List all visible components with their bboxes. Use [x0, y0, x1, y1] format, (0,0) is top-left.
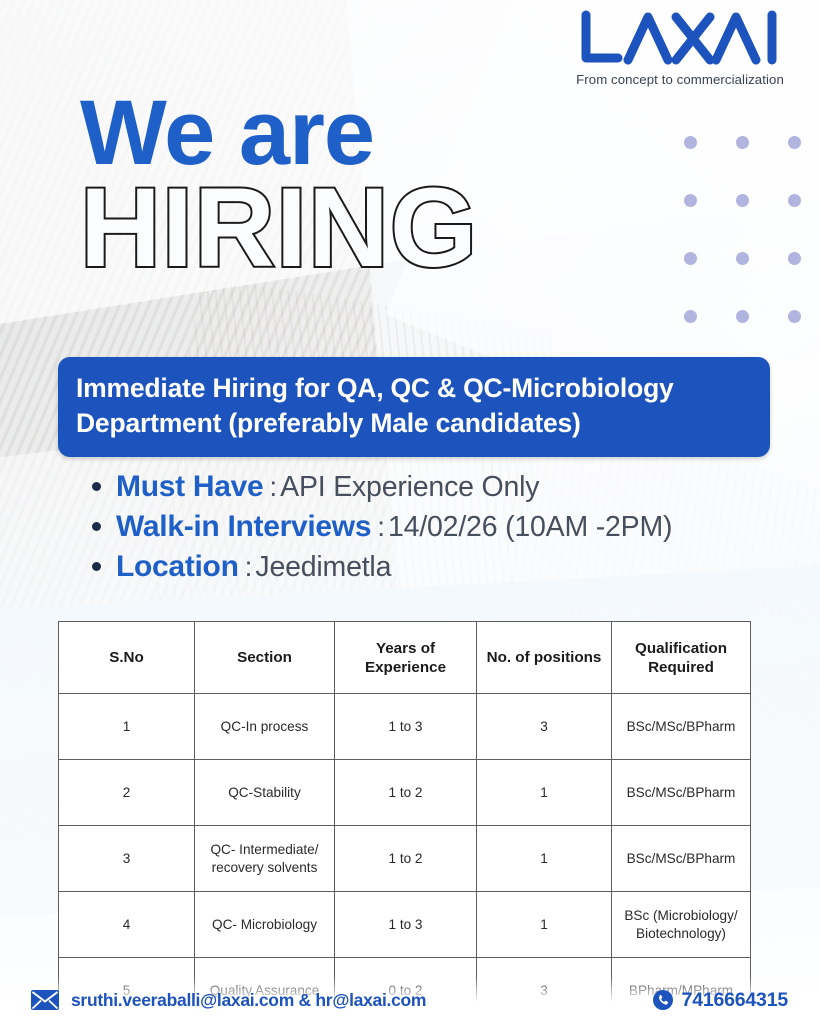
company-logo: From concept to commercialization [576, 8, 784, 87]
column-header-qualification: Qualification Required [612, 622, 751, 694]
positions-table: S.No Section Years of Experience No. of … [58, 621, 751, 1024]
cell-qualification: BSc/MSc/BPharm [612, 694, 751, 760]
dot [788, 136, 801, 149]
bullet-label-must-have: Must Have [116, 470, 263, 504]
footer-phone-text: 7416664315 [682, 989, 788, 1012]
dot [736, 310, 749, 323]
cell-sno: 1 [59, 694, 195, 760]
dot [684, 136, 697, 149]
footer-email-text: sruthi.veeraballi@laxai.com & hr@laxai.c… [71, 990, 426, 1011]
laxai-logo-icon [576, 8, 784, 70]
headline-block: We are HIRING [80, 88, 478, 284]
banner-line-2: Department (preferably Male candidates) [76, 406, 752, 441]
cell-section: QC-In process [195, 694, 335, 760]
cell-experience: 1 to 3 [335, 892, 477, 958]
dot [788, 310, 801, 323]
envelope-icon [30, 989, 60, 1011]
bullet-dot-icon [92, 522, 101, 531]
cell-qualification: BSc/MSc/BPharm [612, 826, 751, 892]
bullet-dot-icon [92, 482, 101, 491]
bullet-value-location: Jeedimetla [255, 551, 391, 584]
dot [788, 252, 801, 265]
bullet-separator: : [269, 471, 277, 503]
table-row: 2 QC-Stability 1 to 2 1 BSc/MSc/BPharm [59, 760, 751, 826]
dot [684, 310, 697, 323]
cell-qualification: BSc (Microbiology/ Biotechnology) [612, 892, 751, 958]
details-list: Must Have : API Experience Only Walk-in … [92, 470, 792, 590]
phone-icon [652, 989, 674, 1011]
contact-footer: sruthi.veeraballi@laxai.com & hr@laxai.c… [0, 976, 820, 1024]
bullet-separator: : [245, 551, 253, 583]
positions-table-wrapper: S.No Section Years of Experience No. of … [58, 621, 750, 1024]
cell-section: QC- Intermediate/ recovery solvents [195, 826, 335, 892]
list-item: Walk-in Interviews : 14/02/26 (10AM -2PM… [92, 510, 792, 544]
table-row: 1 QC-In process 1 to 3 3 BSc/MSc/BPharm [59, 694, 751, 760]
dot [684, 252, 697, 265]
bullet-separator: : [377, 511, 385, 543]
cell-positions: 3 [477, 694, 612, 760]
list-item: Must Have : API Experience Only [92, 470, 792, 504]
dot [684, 194, 697, 207]
table-header-row: S.No Section Years of Experience No. of … [59, 622, 751, 694]
dot [736, 136, 749, 149]
banner-line-1: Immediate Hiring for QA, QC & QC-Microbi… [76, 371, 752, 406]
bullet-dot-icon [92, 562, 101, 571]
table-row: 3 QC- Intermediate/ recovery solvents 1 … [59, 826, 751, 892]
cell-section: QC- Microbiology [195, 892, 335, 958]
dot [736, 252, 749, 265]
hiring-banner: Immediate Hiring for QA, QC & QC-Microbi… [58, 357, 770, 457]
dot [736, 194, 749, 207]
bullet-label-location: Location [116, 550, 239, 584]
cell-positions: 1 [477, 826, 612, 892]
logo-tagline: From concept to commercialization [576, 72, 784, 87]
cell-positions: 1 [477, 760, 612, 826]
cell-section: QC-Stability [195, 760, 335, 826]
table-row: 4 QC- Microbiology 1 to 3 1 BSc (Microbi… [59, 892, 751, 958]
cell-experience: 1 to 2 [335, 826, 477, 892]
list-item: Location : Jeedimetla [92, 550, 792, 584]
bullet-value-walk-in-interviews: 14/02/26 (10AM -2PM) [388, 511, 672, 544]
cell-sno: 2 [59, 760, 195, 826]
column-header-sno: S.No [59, 622, 195, 694]
cell-sno: 4 [59, 892, 195, 958]
cell-positions: 1 [477, 892, 612, 958]
cell-experience: 1 to 3 [335, 694, 477, 760]
decorative-dot-grid [684, 136, 820, 368]
bullet-value-must-have: API Experience Only [280, 471, 539, 504]
bullet-label-walk-in-interviews: Walk-in Interviews [116, 510, 371, 544]
cell-qualification: BSc/MSc/BPharm [612, 760, 751, 826]
headline-hiring: HIRING [80, 172, 478, 284]
hiring-poster: From concept to commercialization We are… [0, 0, 820, 1024]
footer-phone-group[interactable]: 7416664315 [652, 989, 788, 1012]
column-header-section: Section [195, 622, 335, 694]
cell-sno: 3 [59, 826, 195, 892]
cell-experience: 1 to 2 [335, 760, 477, 826]
dot [788, 194, 801, 207]
footer-email-group[interactable]: sruthi.veeraballi@laxai.com & hr@laxai.c… [30, 989, 426, 1011]
column-header-positions: No. of positions [477, 622, 612, 694]
column-header-experience: Years of Experience [335, 622, 477, 694]
